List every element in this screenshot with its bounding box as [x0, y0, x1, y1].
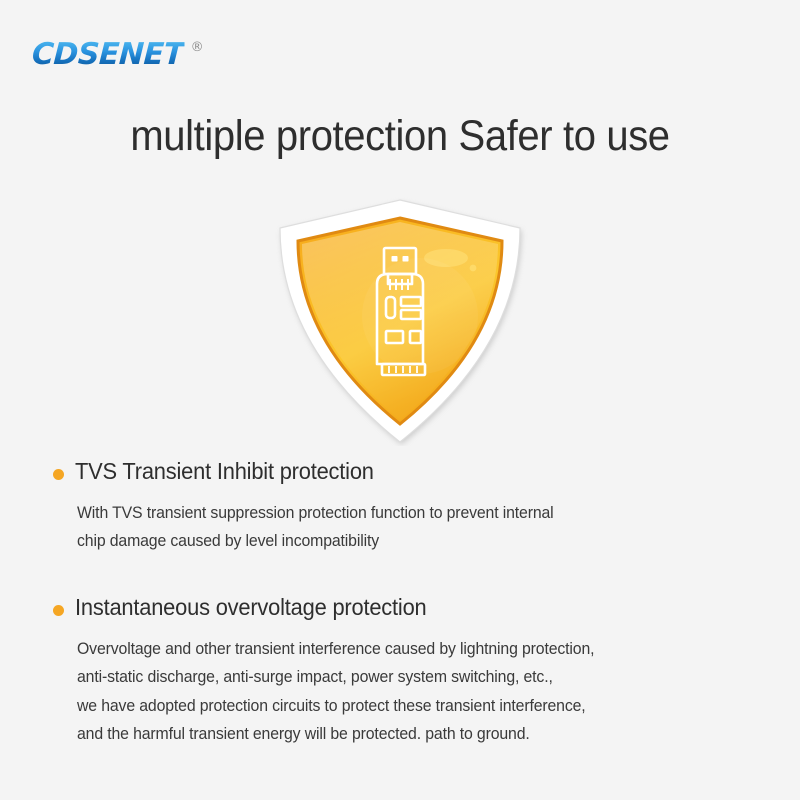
- feature-title: Instantaneous overvoltage protection: [75, 594, 726, 621]
- registered-trademark-icon: ®: [191, 41, 204, 54]
- feature-item-overvoltage: Instantaneous overvoltage protection Ove…: [0, 594, 800, 749]
- promo-page: CDSENET ® multiple protection Safer to u…: [0, 0, 800, 800]
- shield-usb-icon: [270, 196, 530, 446]
- brand-logo-text: CDSENET: [31, 40, 184, 70]
- feature-title: TVS Transient Inhibit protection: [75, 458, 726, 485]
- feature-description-line: chip damage caused by level incompatibil…: [77, 527, 733, 555]
- feature-description-line: we have adopted protection circuits to p…: [77, 692, 733, 720]
- feature-description: With TVS transient suppression protectio…: [77, 499, 733, 556]
- feature-description-line: and the harmful transient energy will be…: [77, 720, 733, 748]
- shield-graphic: [0, 196, 800, 446]
- bullet-dot-icon: [53, 605, 64, 616]
- feature-description-line: anti-static discharge, anti-surge impact…: [77, 663, 733, 691]
- feature-description-line: With TVS transient suppression protectio…: [77, 499, 733, 527]
- brand-logo: CDSENET ®: [32, 40, 204, 70]
- feature-description: Overvoltage and other transient interfer…: [77, 635, 733, 749]
- bullet-dot-icon: [53, 469, 64, 480]
- feature-list: TVS Transient Inhibit protection With TV…: [0, 458, 800, 748]
- feature-description-line: Overvoltage and other transient interfer…: [77, 635, 733, 663]
- feature-item-tvs: TVS Transient Inhibit protection With TV…: [0, 458, 800, 556]
- page-title: multiple protection Safer to use: [28, 112, 772, 161]
